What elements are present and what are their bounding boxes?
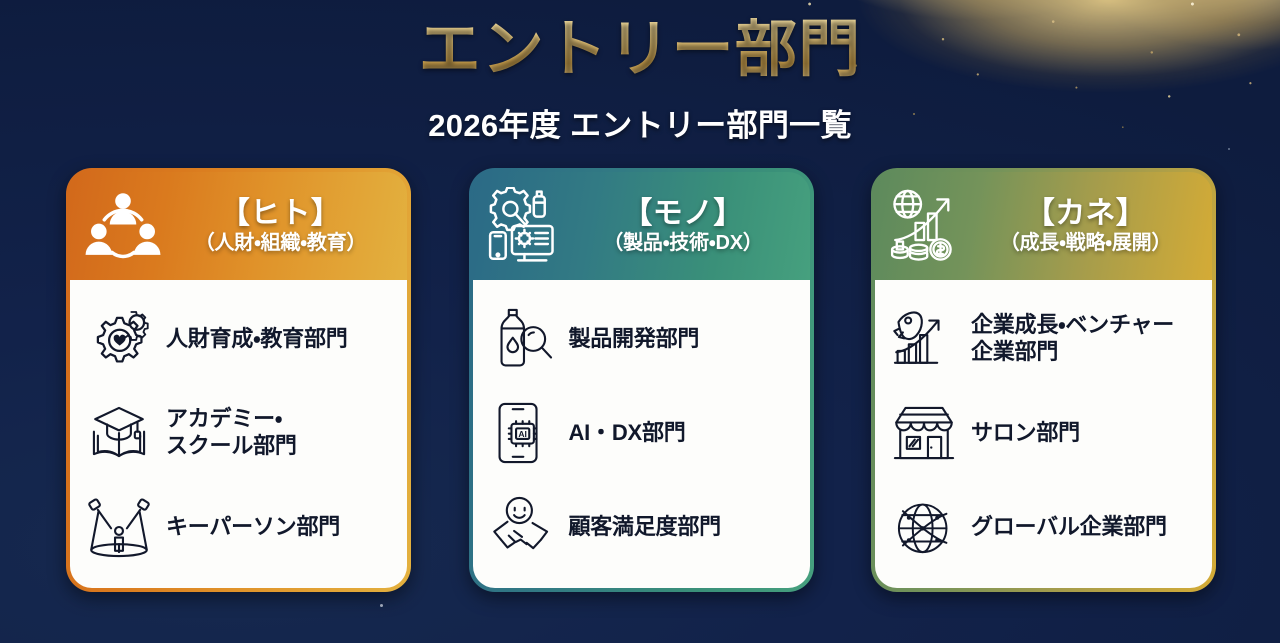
gear-heart-icon [84, 304, 154, 374]
svg-text:AI: AI [518, 429, 527, 439]
spotlight-person-icon [84, 492, 154, 562]
storefront-icon [889, 398, 959, 468]
card-subtitle: （成長・戦略・展開） [973, 233, 1198, 254]
background-speck [380, 604, 383, 607]
page-title: エントリー部門 [0, 18, 1280, 83]
list-item[interactable]: グローバル企業部門 [889, 492, 1202, 562]
card-header-hito: 【ヒト】 （人財・組織・教育） [70, 172, 407, 280]
card-header-mono: 【モノ】 （製品・技術・DX） [473, 172, 810, 280]
card-body-hito: 人財育成・教育部門 [70, 280, 407, 588]
card-title: 【カネ】 [973, 198, 1198, 230]
category-card-mono[interactable]: 【モノ】 （製品・技術・DX） [469, 168, 814, 592]
list-item-label: グローバル企業部門 [971, 514, 1167, 541]
card-header-kane: 【カネ】 （成長・戦略・展開） [875, 172, 1212, 280]
smiley-handshake-icon [487, 492, 557, 562]
list-item[interactable]: サロン部門 [889, 398, 1202, 468]
card-body-mono: 製品開発部門 AI AI・DX部門 [473, 280, 810, 588]
gear-device-icon [487, 187, 565, 265]
list-item-label: 企業成長・ベンチャー企業部門 [971, 312, 1174, 366]
list-item[interactable]: AI AI・DX部門 [487, 398, 800, 468]
list-item-label: 顧客満足度部門 [569, 514, 721, 541]
list-item[interactable]: 企業成長・ベンチャー企業部門 [889, 304, 1202, 374]
category-card-list: 【ヒト】 （人財・組織・教育） 人財育成・教育部 [66, 168, 1216, 592]
list-item-label: サロン部門 [971, 420, 1080, 447]
rocket-bar-chart-icon [889, 304, 959, 374]
phone-ai-chip-icon: AI [487, 398, 557, 468]
card-inner: 【カネ】 （成長・戦略・展開） [875, 172, 1212, 588]
page-subtitle: 2026年度 エントリー部門一覧 [0, 100, 1280, 145]
card-body-kane: 企業成長・ベンチャー企業部門 [875, 280, 1212, 588]
list-item-label: 製品開発部門 [569, 326, 700, 353]
card-title: 【ヒト】 [168, 198, 393, 230]
card-subtitle: （人財・組織・教育） [168, 233, 393, 254]
list-item-label: アカデミー・スクール部門 [166, 406, 297, 460]
card-title: 【モノ】 [571, 198, 796, 230]
list-item-label: AI・DX部門 [569, 420, 686, 447]
graduation-book-icon [84, 398, 154, 468]
background-speck [1228, 148, 1230, 150]
list-item-label: キーパーソン部門 [166, 514, 340, 541]
card-header-text: 【カネ】 （成長・戦略・展開） [973, 198, 1202, 254]
globe-growth-coins-icon [889, 187, 967, 265]
list-item-label: 人財育成・教育部門 [166, 326, 348, 353]
card-header-text: 【モノ】 （製品・技術・DX） [571, 198, 800, 254]
list-item[interactable]: 顧客満足度部門 [487, 492, 800, 562]
list-item[interactable]: アカデミー・スクール部門 [84, 398, 397, 468]
list-item[interactable]: 製品開発部門 [487, 304, 800, 374]
list-item[interactable]: キーパーソン部門 [84, 492, 397, 562]
globe-wire-icon [889, 492, 959, 562]
list-item[interactable]: 人財育成・教育部門 [84, 304, 397, 374]
people-network-icon [84, 187, 162, 265]
card-header-text: 【ヒト】 （人財・組織・教育） [168, 198, 397, 254]
card-inner: 【モノ】 （製品・技術・DX） [473, 172, 810, 588]
card-inner: 【ヒト】 （人財・組織・教育） 人財育成・教育部 [70, 172, 407, 588]
category-card-kane[interactable]: 【カネ】 （成長・戦略・展開） [871, 168, 1216, 592]
category-card-hito[interactable]: 【ヒト】 （人財・組織・教育） 人財育成・教育部 [66, 168, 411, 592]
bottle-magnifier-icon [487, 304, 557, 374]
card-subtitle: （製品・技術・DX） [571, 233, 796, 254]
